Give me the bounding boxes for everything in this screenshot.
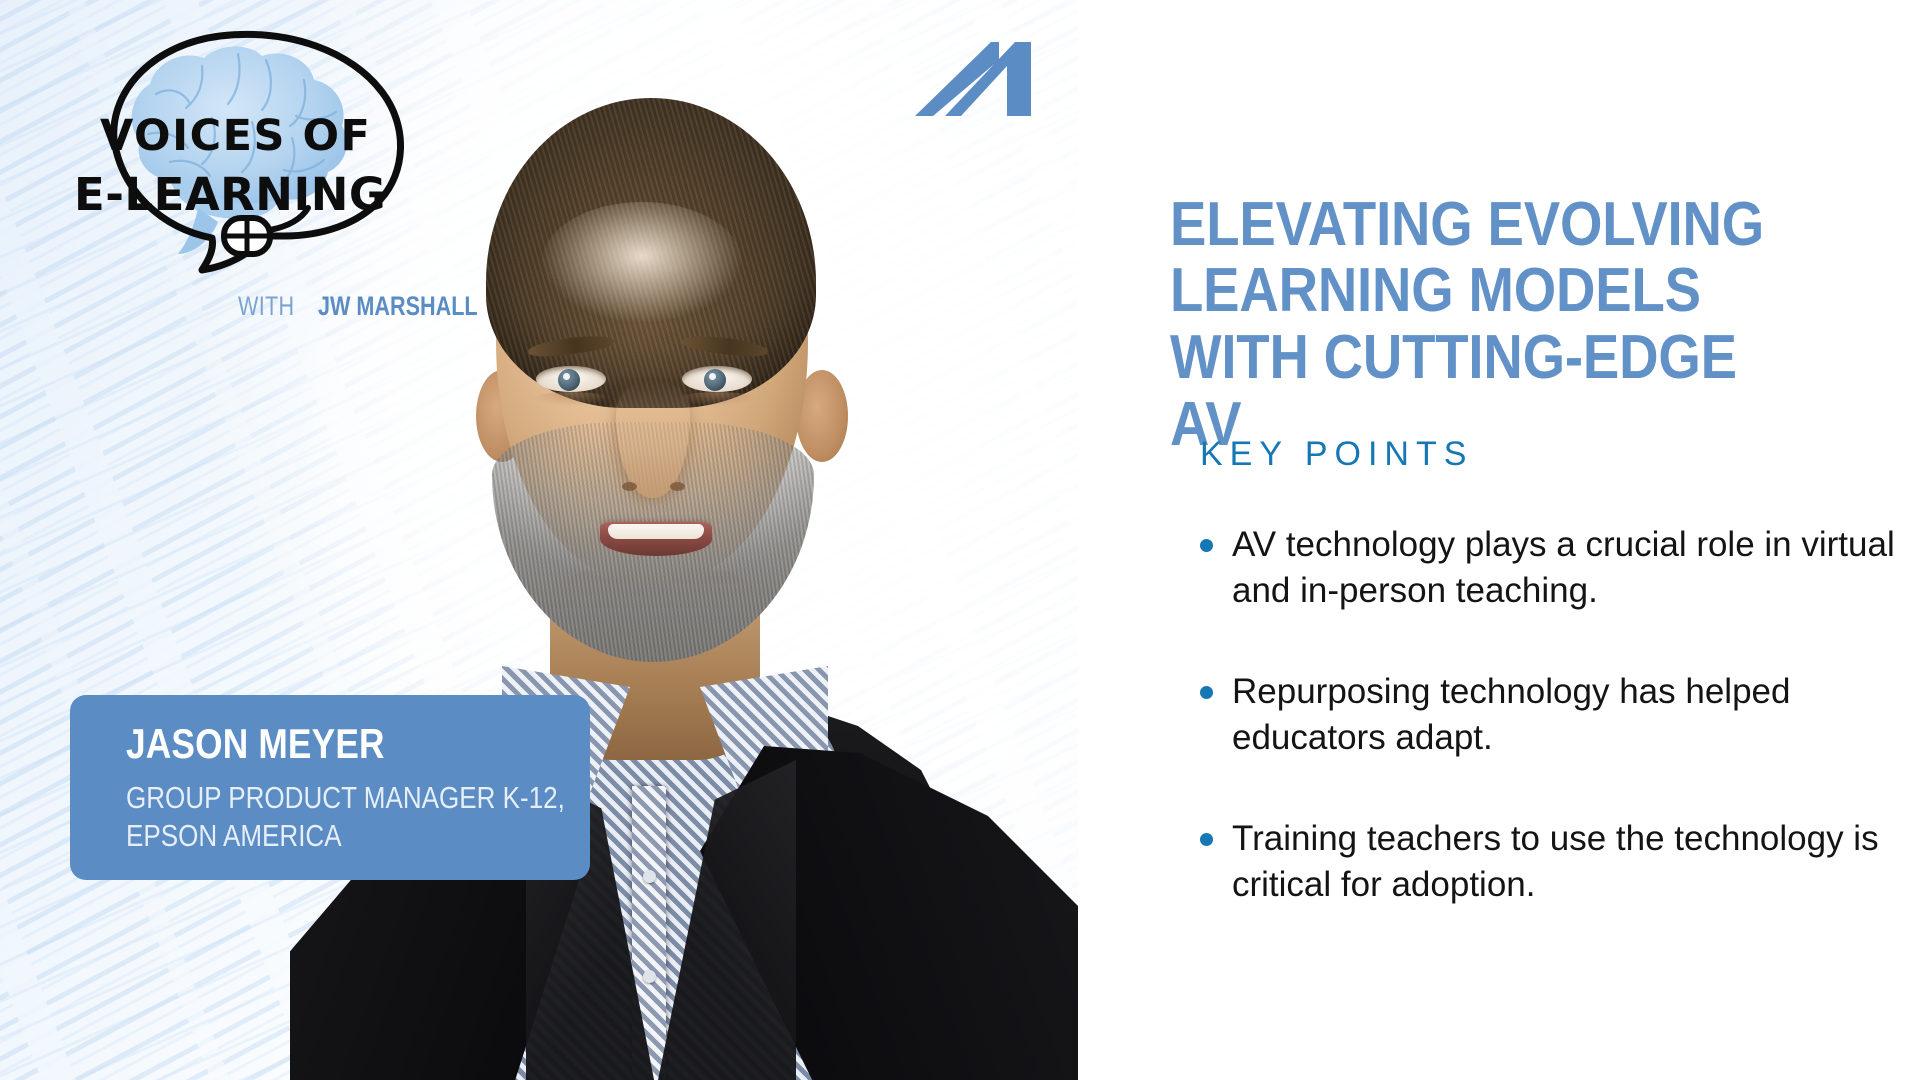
m-mountain-logo-icon[interactable] <box>915 36 1060 118</box>
podcast-logo[interactable]: VOICES OF E-LEARNING WITHJW MARSHALL <box>52 22 442 322</box>
logo-tagline: WITHJW MARSHALL <box>238 293 517 320</box>
logo-title-line2: E-LEARNING <box>74 168 386 221</box>
photo-iris-left <box>558 369 580 391</box>
key-points-list: AV technology plays a crucial role in vi… <box>1196 522 1896 907</box>
photo-underlid-left <box>532 392 610 406</box>
bullet-dot-icon <box>1200 539 1213 552</box>
bullet-dot-icon <box>1200 833 1213 846</box>
tagline-prefix: WITH <box>238 293 294 320</box>
photo-nostril-right <box>670 482 685 491</box>
speaker-panel: VOICES OF E-LEARNING WITHJW MARSHALL JAS… <box>0 0 1100 1080</box>
key-point-item: Training teachers to use the technology … <box>1196 816 1896 907</box>
speaker-role-line2: EPSON AMERICA <box>126 817 487 855</box>
speaker-role: GROUP PRODUCT MANAGER K-12, EPSON AMERIC… <box>126 779 487 855</box>
key-point-text: Repurposing technology has helped educat… <box>1232 672 1790 757</box>
photo-underlid-right <box>678 392 756 406</box>
speaker-name-badge: JASON MEYER GROUP PRODUCT MANAGER K-12, … <box>70 695 590 880</box>
episode-title: ELEVATING EVOLVING LEARNING MODELS WITH … <box>1170 192 1786 460</box>
key-point-text: Training teachers to use the technology … <box>1232 819 1879 904</box>
photo-mouth <box>600 522 712 556</box>
photo-shirt-button <box>643 970 656 983</box>
content-panel: ELEVATING EVOLVING LEARNING MODELS WITH … <box>1100 0 1920 1080</box>
photo-eye-right <box>682 366 752 392</box>
photo-teeth <box>608 524 704 539</box>
episode-highlight-slide: VOICES OF E-LEARNING WITHJW MARSHALL JAS… <box>0 0 1920 1080</box>
panel-divider <box>1078 0 1100 1080</box>
photo-eye-left <box>536 366 606 392</box>
brain-speech-bubble-icon: VOICES OF E-LEARNING <box>52 22 442 282</box>
logo-title-line1: VOICES OF <box>100 111 371 161</box>
key-points-heading: KEY POINTS <box>1200 435 1473 474</box>
photo-shirt-button <box>643 870 656 883</box>
photo-nostril-left <box>622 482 637 491</box>
key-point-item: AV technology plays a crucial role in vi… <box>1196 522 1896 613</box>
speaker-role-line1: GROUP PRODUCT MANAGER K-12, <box>126 779 487 817</box>
photo-iris-right <box>704 369 726 391</box>
photo-forehead-highlight <box>542 202 742 322</box>
tagline-host-name: JW MARSHALL <box>318 293 478 320</box>
key-point-text: AV technology plays a crucial role in vi… <box>1232 525 1895 610</box>
speaker-name: JASON MEYER <box>126 723 487 765</box>
key-point-item: Repurposing technology has helped educat… <box>1196 669 1896 760</box>
bullet-dot-icon <box>1200 686 1213 699</box>
